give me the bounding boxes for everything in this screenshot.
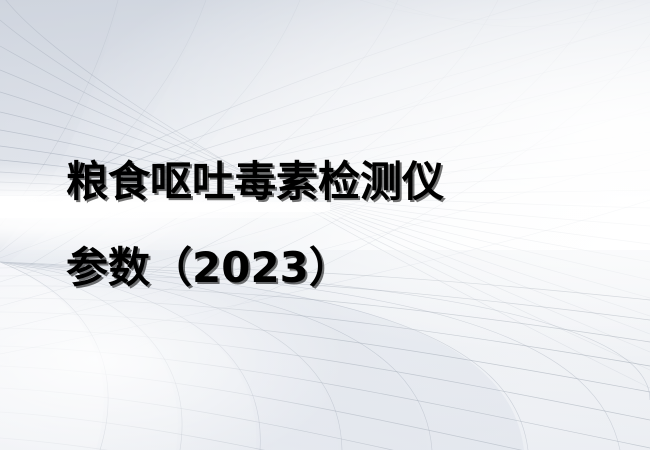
- banner-title-block: 粮食呕吐毒素检测仪 参数（2023）: [0, 0, 650, 450]
- banner-title-line-2: 参数（2023）: [66, 225, 650, 311]
- banner-title-line-1: 粮食呕吐毒素检测仪: [66, 139, 650, 225]
- title-banner: 粮食呕吐毒素检测仪 参数（2023）: [0, 0, 650, 450]
